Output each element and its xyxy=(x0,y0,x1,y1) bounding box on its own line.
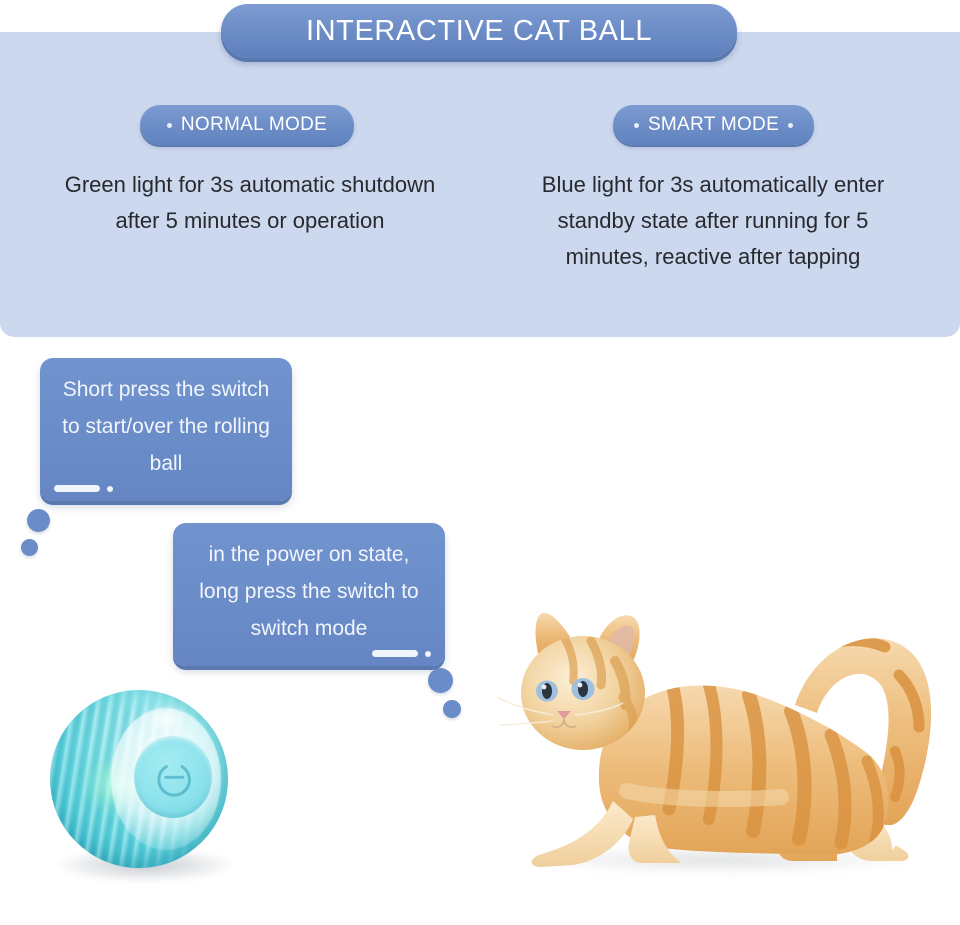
bubble-tail-circle-large-icon xyxy=(27,509,50,532)
page-title: INTERACTIVE CAT BALL xyxy=(306,15,652,48)
badge-normal-mode-label: NORMAL MODE xyxy=(181,114,327,136)
bubble-tail-circle-small-icon xyxy=(443,700,461,718)
badge-dot-left-icon xyxy=(634,123,639,128)
badge-smart-mode: SMART MODE xyxy=(613,105,814,145)
instruction-bubble-short-press: Short press the switch to start/over the… xyxy=(40,358,292,501)
page-title-banner: INTERACTIVE CAT BALL xyxy=(221,4,737,58)
ball-power-button xyxy=(134,736,212,818)
kitten-photo xyxy=(495,585,950,915)
badge-normal-mode: NORMAL MODE xyxy=(140,105,354,145)
infographic-page: INTERACTIVE CAT BALL NORMAL MODE SMART M… xyxy=(0,0,960,925)
smart-mode-description: Blue light for 3s automatically enter st… xyxy=(520,167,906,275)
badge-dot-right-icon xyxy=(788,123,793,128)
bubble-footer xyxy=(54,485,113,492)
bubble-tail-circle-small-icon xyxy=(21,539,38,556)
instruction-bubble-long-press-text: in the power on state, long press the sw… xyxy=(187,536,431,647)
ball-specular-highlight xyxy=(143,704,189,732)
badge-smart-mode-label: SMART MODE xyxy=(648,114,779,136)
ball-body xyxy=(50,690,228,868)
power-icon xyxy=(150,753,195,800)
bubble-dot-icon xyxy=(425,651,431,657)
instruction-bubble-short-press-text: Short press the switch to start/over the… xyxy=(54,371,278,482)
bubble-dot-icon xyxy=(107,486,113,492)
bubble-dash-icon xyxy=(372,650,418,657)
kitten-head xyxy=(497,613,645,750)
bubble-tail-circle-large-icon xyxy=(428,668,453,693)
product-ball-image xyxy=(48,690,238,890)
bubble-footer xyxy=(372,650,431,657)
badge-dot-left-icon xyxy=(167,123,172,128)
instruction-bubble-long-press: in the power on state, long press the sw… xyxy=(173,523,445,666)
kitten-illustration xyxy=(495,585,950,915)
bubble-dash-icon xyxy=(54,485,100,492)
normal-mode-description: Green light for 3s automatic shutdown af… xyxy=(60,167,440,239)
